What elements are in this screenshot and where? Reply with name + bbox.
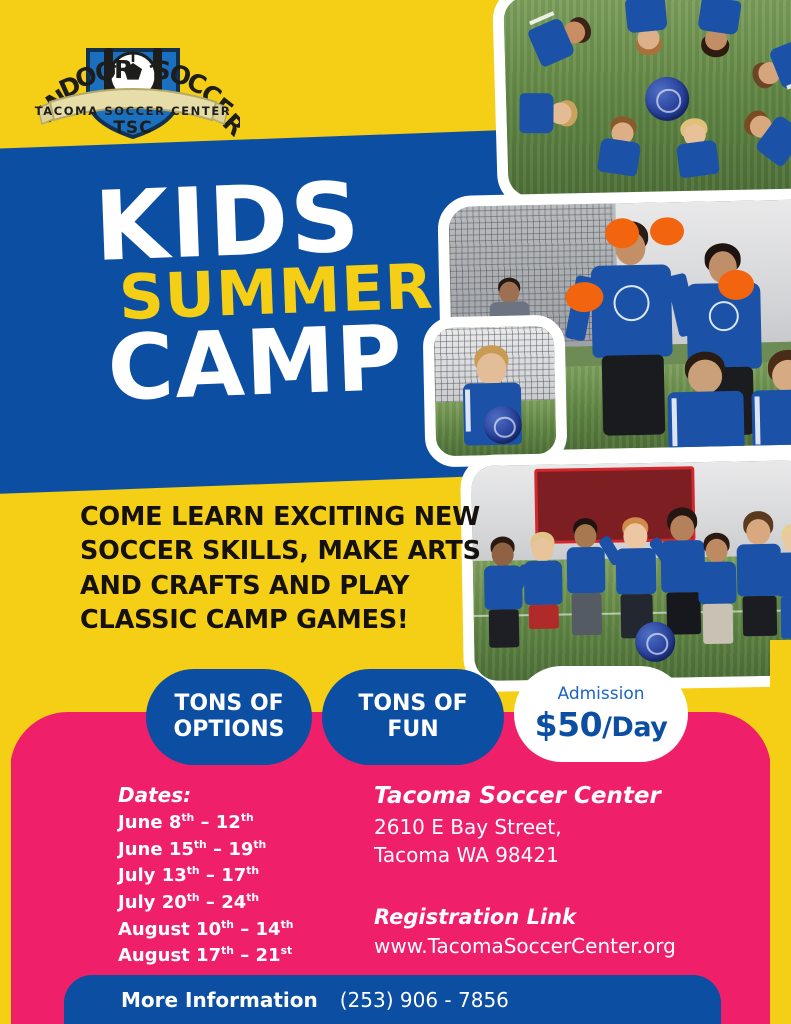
date-month: July	[118, 892, 155, 913]
badge-options-line1: TONS OF	[174, 691, 285, 717]
badge-fun-line1: TONS OF	[358, 691, 467, 717]
date-end-suffix: th	[246, 891, 259, 904]
flyer-poster: I I N D O O R S O C C E R TACOMA SOCCER …	[0, 0, 791, 1024]
date-start-suffix: th	[187, 891, 200, 904]
headline-camp: CAMP	[106, 317, 437, 412]
date-dash: –	[201, 812, 210, 833]
date-end-suffix: st	[281, 944, 293, 957]
date-dash: –	[240, 945, 249, 966]
date-start-suffix: th	[187, 864, 200, 877]
date-item: August 10th – 14th	[118, 917, 353, 944]
date-item: July 13th – 17th	[118, 863, 353, 890]
body-copy-line: SOCCER SKILLS, MAKE ARTS	[80, 534, 470, 568]
footer-label: More Information	[121, 988, 318, 1012]
headline: KIDS SUMMER CAMP	[93, 174, 438, 412]
badge-tons-of-fun[interactable]: TONS OF FUN	[322, 669, 504, 765]
date-end: 19	[228, 839, 253, 860]
photo-toddler-with-ball	[422, 315, 567, 468]
photo-kids-circle	[492, 0, 791, 209]
date-end: 12	[216, 812, 241, 833]
date-end: 14	[256, 919, 281, 940]
footer-bar: More Information (253) 906 - 7856	[64, 975, 721, 1024]
date-start: 20	[162, 892, 187, 913]
date-dash: –	[213, 839, 222, 860]
date-dash: –	[206, 865, 215, 886]
contact-column: Tacoma Soccer Center 2610 E Bay Street, …	[374, 783, 704, 958]
badge-tons-of-options[interactable]: TONS OF OPTIONS	[146, 669, 312, 765]
address-line-1: 2610 E Bay Street,	[374, 814, 704, 842]
photo-group-waving	[460, 449, 791, 692]
left-edge-strip	[0, 700, 11, 1024]
date-month: June	[118, 839, 163, 860]
body-copy-line: COME LEARN EXCITING NEW	[80, 500, 470, 534]
date-item: June 15th – 19th	[118, 837, 353, 864]
date-item: July 20th – 24th	[118, 890, 353, 917]
admission-amount: $50	[535, 705, 602, 744]
logo-monogram: TSC	[113, 118, 152, 138]
admission-unit: /Day	[602, 712, 667, 743]
date-month: July	[118, 865, 155, 886]
date-start-suffix: th	[181, 811, 194, 824]
date-start: 17	[196, 945, 221, 966]
date-start: 10	[196, 919, 221, 940]
badge-options-line2: OPTIONS	[174, 717, 285, 743]
date-item: June 8th – 12th	[118, 810, 353, 837]
date-start-suffix: th	[194, 838, 207, 851]
address-line-2: Tacoma WA 98421	[374, 842, 704, 870]
tacoma-soccer-center-logo: I I N D O O R S O C C E R TACOMA SOCCER …	[26, 36, 240, 144]
date-start: 15	[169, 839, 194, 860]
admission-label: Admission	[557, 684, 644, 704]
date-end: 21	[256, 945, 281, 966]
footer-phone[interactable]: (253) 906 - 7856	[340, 988, 509, 1012]
admission-amount-group: $50/Day	[535, 705, 668, 744]
date-month: August	[118, 919, 190, 940]
date-item: August 17th – 21st	[118, 943, 353, 970]
svg-text:R: R	[114, 55, 133, 84]
dates-title: Dates:	[118, 783, 353, 807]
date-end: 24	[221, 892, 246, 913]
date-dash: –	[206, 892, 215, 913]
date-month: August	[118, 945, 190, 966]
date-end-suffix: th	[241, 811, 254, 824]
body-copy: COME LEARN EXCITING NEW SOCCER SKILLS, M…	[80, 500, 470, 638]
date-dash: –	[240, 919, 249, 940]
date-end: 17	[221, 865, 246, 886]
date-end-suffix: th	[281, 918, 294, 931]
registration-url[interactable]: www.TacomaSoccerCenter.org	[374, 934, 704, 958]
logo-banner-text: TACOMA SOCCER CENTER	[35, 104, 232, 118]
dates-column: Dates: June 8th – 12th June 15th – 19th …	[118, 783, 353, 970]
badge-fun-line2: FUN	[358, 717, 467, 743]
date-start: 8	[169, 812, 182, 833]
badge-admission-price[interactable]: Admission $50/Day	[514, 666, 688, 762]
date-end-suffix: th	[246, 864, 259, 877]
date-start-suffix: th	[221, 918, 234, 931]
date-month: June	[118, 812, 163, 833]
body-copy-line: AND CRAFTS AND PLAY	[80, 569, 470, 603]
date-start: 13	[162, 865, 187, 886]
date-start-suffix: th	[221, 944, 234, 957]
registration-title: Registration Link	[374, 905, 704, 929]
right-edge-strip	[770, 640, 791, 1024]
date-end-suffix: th	[253, 838, 266, 851]
venue-name: Tacoma Soccer Center	[374, 783, 704, 809]
body-copy-line: CLASSIC CAMP GAMES!	[80, 603, 470, 637]
